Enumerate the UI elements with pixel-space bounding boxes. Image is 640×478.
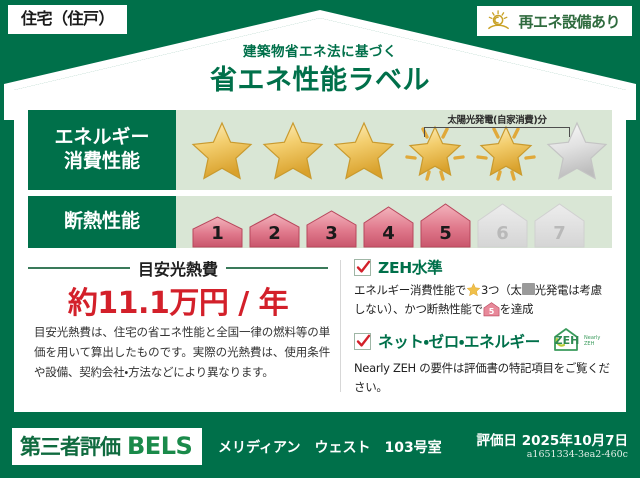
insulation-grade-2-value: 2 <box>247 223 302 244</box>
zeh-logo-icon: ZEH Nearly ZEH <box>551 326 607 356</box>
insulation-grade-scale: 1 2 3 <box>176 196 612 248</box>
redacted-character <box>522 283 535 295</box>
heading-rule-right <box>226 267 328 269</box>
insulation-grade-3-value: 3 <box>304 223 359 244</box>
estimated-cost-value: 約11.1万円 / 年 <box>28 278 328 322</box>
inline-star-icon <box>466 282 481 297</box>
insulation-performance-row: 断熱性能 <box>28 196 612 248</box>
inline-grade-badge: 5 <box>483 301 500 317</box>
star-filled-2 <box>259 117 327 183</box>
check-icon <box>354 333 371 350</box>
zeh-standard-title: ZEH水準 <box>378 256 442 278</box>
zeh-net-zero-desc: Nearly ZEH の要件は評価書の特記項目をご覧ください。 <box>354 359 612 396</box>
insulation-grade-1-value: 1 <box>190 223 245 244</box>
zeh-desc-part4: を達成 <box>500 302 534 316</box>
label-card: エネルギー 消費性能 <box>14 96 626 412</box>
heading-rule-left <box>28 267 130 269</box>
category-chip: 住宅（住戸） <box>8 5 127 34</box>
building-name: メリディアン ウェスト 103号室 <box>218 437 442 457</box>
energy-label-line2: 消費性能 <box>64 150 140 172</box>
estimated-cost-heading: 目安光熱費 <box>28 256 328 280</box>
insulation-grades-area: 1 2 3 <box>176 196 612 248</box>
insulation-grade-1: 1 <box>190 214 245 248</box>
bels-logo: 第三者評価 BELS <box>12 428 202 465</box>
section-divider <box>340 260 341 392</box>
star-filled-solar-5 <box>472 117 540 183</box>
energy-performance-label: エネルギー 消費性能 <box>28 110 176 190</box>
star-empty-6 <box>543 117 611 183</box>
insulation-grade-2: 2 <box>247 211 302 248</box>
evaluation-date: 評価日 2025年10月7日 <box>477 429 628 449</box>
zeh-desc-part1: エネルギー消費性能で <box>354 283 466 297</box>
bels-logo-en: BELS <box>127 432 192 460</box>
star-filled-1 <box>188 117 256 183</box>
check-icon <box>354 259 371 276</box>
insulation-grade-7: 7 <box>532 201 587 248</box>
svg-text:5: 5 <box>488 307 494 316</box>
evaluation-id: a1651334-3ea2-460c <box>527 449 628 460</box>
star-rating <box>176 110 612 190</box>
star-filled-3 <box>330 117 398 183</box>
energy-performance-label: 住宅（住戸） 再エネ設備あり 建築物省エネ法に基づく 省エネ性能ラベル <box>0 0 640 478</box>
page-title: 省エネ性能ラベル <box>0 58 640 97</box>
zeh-net-zero-title: ネット・ゼロ・エネルギー <box>378 330 540 352</box>
insulation-grade-7-value: 7 <box>532 223 587 244</box>
svg-text:ZEH: ZEH <box>584 341 595 347</box>
lower-section: 目安光熱費 約11.1万円 / 年 目安光熱費は、住宅の省エネ性能と全国一律の燃… <box>28 256 612 398</box>
bels-logo-jp: 第三者評価 <box>20 431 120 461</box>
zeh-item-net-zero: ネット・ゼロ・エネルギー ZEH Nearly ZEH Nearly ZEH の… <box>354 326 612 396</box>
zeh-standard-desc: エネルギー消費性能で3つ（太光発電は考慮しない）、かつ断熱性能で5を達成 <box>354 281 612 318</box>
header-subtitle: 建築物省エネ法に基づく <box>0 40 640 60</box>
energy-performance-row: エネルギー 消費性能 <box>28 110 612 190</box>
insulation-grade-4: 4 <box>361 204 416 248</box>
svg-text:ZEH: ZEH <box>555 334 580 347</box>
insulation-grade-5-value: 5 <box>418 223 473 244</box>
insulation-grade-3: 3 <box>304 208 359 248</box>
zeh-net-zero-title-row: ネット・ゼロ・エネルギー ZEH Nearly ZEH <box>354 326 612 356</box>
zeh-desc-part2: 3つ（太 <box>481 283 522 297</box>
energy-label-line1: エネルギー <box>54 126 149 148</box>
footer-bar: 第三者評価 BELS メリディアン ウェスト 103号室 評価日 2025年10… <box>0 418 640 478</box>
renewable-equipment-chip: 再エネ設備あり <box>477 6 632 36</box>
estimated-cost-title: 目安光熱費 <box>138 256 218 280</box>
renewable-chip-label: 再エネ設備あり <box>518 11 620 32</box>
zeh-block: ZEH水準 エネルギー消費性能で3つ（太光発電は考慮しない）、かつ断熱性能で5を… <box>354 256 612 405</box>
energy-stars-area: 太陽光発電(自家消費)分 <box>176 110 612 190</box>
sun-icon <box>486 10 512 32</box>
estimated-cost-note: 目安光熱費は、住宅の省エネ性能と全国一律の燃料等の単価を用いて算出したものです。… <box>34 322 330 382</box>
zeh-item-standard: ZEH水準 エネルギー消費性能で3つ（太光発電は考慮しない）、かつ断熱性能で5を… <box>354 256 612 318</box>
insulation-grade-4-value: 4 <box>361 223 416 244</box>
insulation-performance-label: 断熱性能 <box>28 196 176 248</box>
insulation-grade-5: 5 <box>418 201 473 248</box>
zeh-standard-title-row: ZEH水準 <box>354 256 612 278</box>
star-filled-solar-4 <box>401 117 469 183</box>
insulation-grade-6-value: 6 <box>475 223 530 244</box>
insulation-grade-6: 6 <box>475 201 530 248</box>
